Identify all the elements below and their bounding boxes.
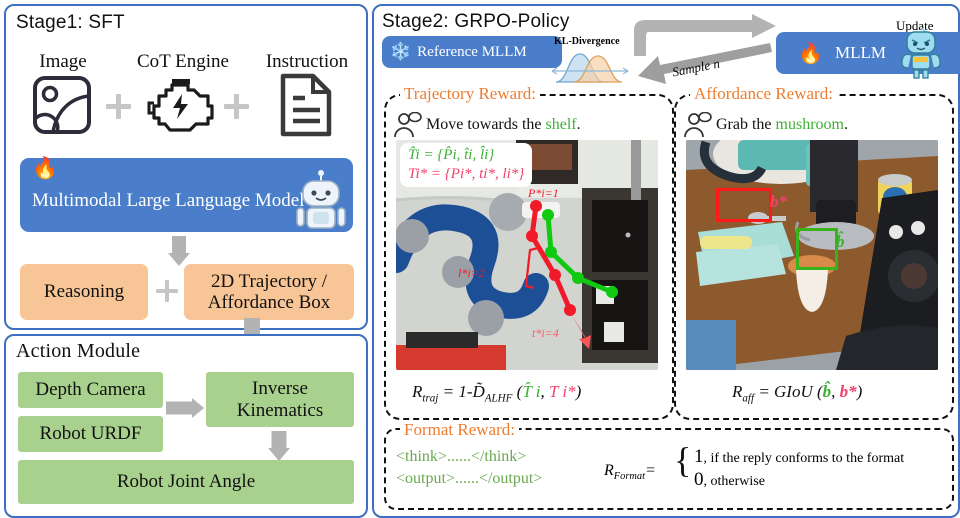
- robot-icon: [293, 168, 349, 230]
- person-speech-icon: [684, 112, 712, 138]
- format-cases: 1, if the reply conforms to the format 0…: [694, 446, 904, 492]
- affordance-instruction-suffix: .: [844, 116, 848, 133]
- trajectory-formula-close: ): [576, 382, 582, 401]
- pred-bbox-label: b̂: [836, 232, 845, 252]
- format-reward-title: Format Reward:: [400, 420, 519, 440]
- strong-robot-icon: [898, 27, 944, 79]
- action-module-title: Action Module: [16, 340, 140, 363]
- plus-icon-1: [106, 94, 131, 119]
- engine-icon: [146, 76, 214, 134]
- annot-t-star: t*i=4: [532, 326, 559, 341]
- trajectory-photo: T̂i = {P̂i, t̂i, l̂i} Ti* = {Pi*, ti*, l…: [396, 140, 658, 370]
- stage1-title: Stage1: SFT: [16, 12, 125, 34]
- stage2-title: Stage2: GRPO-Policy: [382, 11, 570, 33]
- affordance-formula-arg2: b*: [840, 382, 857, 401]
- affordance-formula-sub: aff: [742, 392, 754, 404]
- trajectory-formula: Rtraj = 1-D̃ALHF (T̂ i, T i*): [412, 382, 581, 404]
- output-label-reasoning: Reasoning: [44, 281, 124, 302]
- fire-icon: 🔥: [32, 156, 58, 181]
- trajectory-instruction-target: shelf: [546, 116, 577, 133]
- arrow-sensors-to-ik: [166, 396, 204, 420]
- image-icon: [31, 74, 93, 136]
- format-case-zero-value: 0: [694, 469, 704, 490]
- fire-icon: 🔥: [798, 41, 823, 66]
- affordance-photo: b* b̂: [686, 140, 938, 370]
- affordance-formula-comma: ,: [831, 382, 840, 401]
- trajectory-formula-sub: traj: [422, 392, 438, 404]
- format-formula-lhs-wrap: RFormat=: [604, 462, 656, 482]
- pred-bbox: [796, 228, 838, 270]
- stage1-panel: Stage1: SFT Image CoT Engine Instruction: [4, 4, 368, 330]
- policy-mllm-pill: 🔥 MLLM: [776, 32, 960, 74]
- trajectory-instruction: Move towards the shelf.: [426, 116, 581, 134]
- plus-icon-3: [156, 280, 178, 302]
- multimodal-model-bar: 🔥 Multimodal Large Language Model: [20, 158, 353, 232]
- arrow-model-to-output: [166, 236, 192, 266]
- format-output-line: <output>......</output>: [396, 468, 542, 490]
- document-icon: [278, 72, 334, 138]
- reference-mllm-label: Reference MLLM: [417, 44, 527, 61]
- format-formula-sub: Format: [614, 471, 645, 482]
- person-speech-icon: [394, 112, 422, 138]
- block-label-robot-urdf: Robot URDF: [40, 423, 142, 444]
- block-depth-camera: Depth Camera: [18, 372, 163, 408]
- annot-p-star: P*i=1: [528, 186, 559, 201]
- block-inverse-kinematics: Inverse Kinematics: [206, 372, 354, 427]
- affordance-formula-eq: = GIoU: [758, 382, 817, 401]
- trajectory-reward-title: Trajectory Reward:: [400, 84, 540, 104]
- stage2-panel: Stage2: GRPO-Policy ❄️ Reference MLLM KL…: [372, 4, 960, 518]
- multimodal-model-label: Multimodal Large Language Model: [32, 190, 304, 212]
- trajectory-formula-lhs: R: [412, 382, 422, 401]
- arrow-ik-to-joint: [266, 431, 292, 461]
- policy-mllm-label: MLLM: [835, 43, 886, 63]
- format-formula-lhs: R: [604, 462, 614, 479]
- input-label-instruction: Instruction: [251, 51, 363, 73]
- format-case-one-value: 1: [694, 446, 704, 467]
- trajectory-overlay-gt: Ti* = {Pi*, ti*, li*}: [408, 165, 524, 184]
- input-label-cot-engine: CoT Engine: [118, 51, 248, 73]
- affordance-instruction-target: mushroom: [776, 116, 844, 133]
- output-box-reasoning: Reasoning: [20, 264, 148, 320]
- kl-divergence-curves: [550, 46, 630, 86]
- affordance-formula-arg1: b̂: [823, 382, 832, 401]
- trajectory-overlay-pred: T̂i = {P̂i, t̂i, l̂i}: [408, 146, 524, 165]
- input-label-image: Image: [18, 51, 108, 73]
- snowflake-icon: ❄️: [390, 42, 411, 62]
- reference-mllm-pill: ❄️ Reference MLLM: [382, 36, 562, 68]
- trajectory-instruction-suffix: .: [577, 116, 581, 133]
- trajectory-formula-arg2: T i*: [549, 382, 576, 401]
- format-case-one: 1, if the reply conforms to the format: [694, 446, 904, 469]
- gt-bbox-label: b*: [770, 192, 787, 212]
- format-case-zero: 0, otherwise: [694, 469, 904, 492]
- plus-icon-2: [224, 94, 249, 119]
- format-case-one-text: , if the reply conforms to the format: [704, 451, 905, 466]
- format-formula-eq: =: [645, 462, 656, 479]
- block-label-depth-camera: Depth Camera: [35, 379, 145, 400]
- figure-root: Stage1: SFT Image CoT Engine Instruction: [0, 0, 960, 518]
- block-label-robot-joint-angle: Robot Joint Angle: [117, 471, 255, 492]
- format-think-line: <think>......</think>: [396, 446, 542, 468]
- affordance-instruction-prefix: Grab the: [716, 116, 776, 133]
- trajectory-formula-d-sub: ALHF: [485, 392, 513, 404]
- annot-l-star: l*i=2: [458, 266, 485, 281]
- affordance-reward-title: Affordance Reward:: [690, 84, 837, 104]
- affordance-formula: Raff = GIoU (b̂, b*): [732, 382, 862, 404]
- affordance-instruction: Grab the mushroom.: [716, 116, 848, 134]
- trajectory-formula-d: D̃: [473, 382, 485, 401]
- trajectory-formula-comma: ,: [540, 382, 549, 401]
- block-robot-joint-angle: Robot Joint Angle: [18, 460, 354, 504]
- trajectory-formula-eq: = 1-: [443, 382, 473, 401]
- brace-icon: {: [674, 442, 691, 478]
- action-module-panel: Action Module Depth Camera Robot URDF In…: [4, 334, 368, 518]
- output-label-trajectory: 2D Trajectory / Affordance Box: [208, 271, 331, 314]
- gt-bbox: [716, 188, 772, 222]
- format-case-zero-text: , otherwise: [704, 474, 765, 489]
- trajectory-formula-arg1: T̂ i: [522, 382, 540, 401]
- affordance-formula-close: ): [857, 382, 863, 401]
- trajectory-instruction-prefix: Move towards the: [426, 116, 546, 133]
- block-robot-urdf: Robot URDF: [18, 416, 163, 452]
- block-label-inverse-kinematics: Inverse Kinematics: [237, 378, 324, 421]
- format-tags: <think>......</think> <output>......</ou…: [396, 446, 542, 489]
- output-box-trajectory: 2D Trajectory / Affordance Box: [184, 264, 354, 320]
- affordance-formula-lhs: R: [732, 382, 742, 401]
